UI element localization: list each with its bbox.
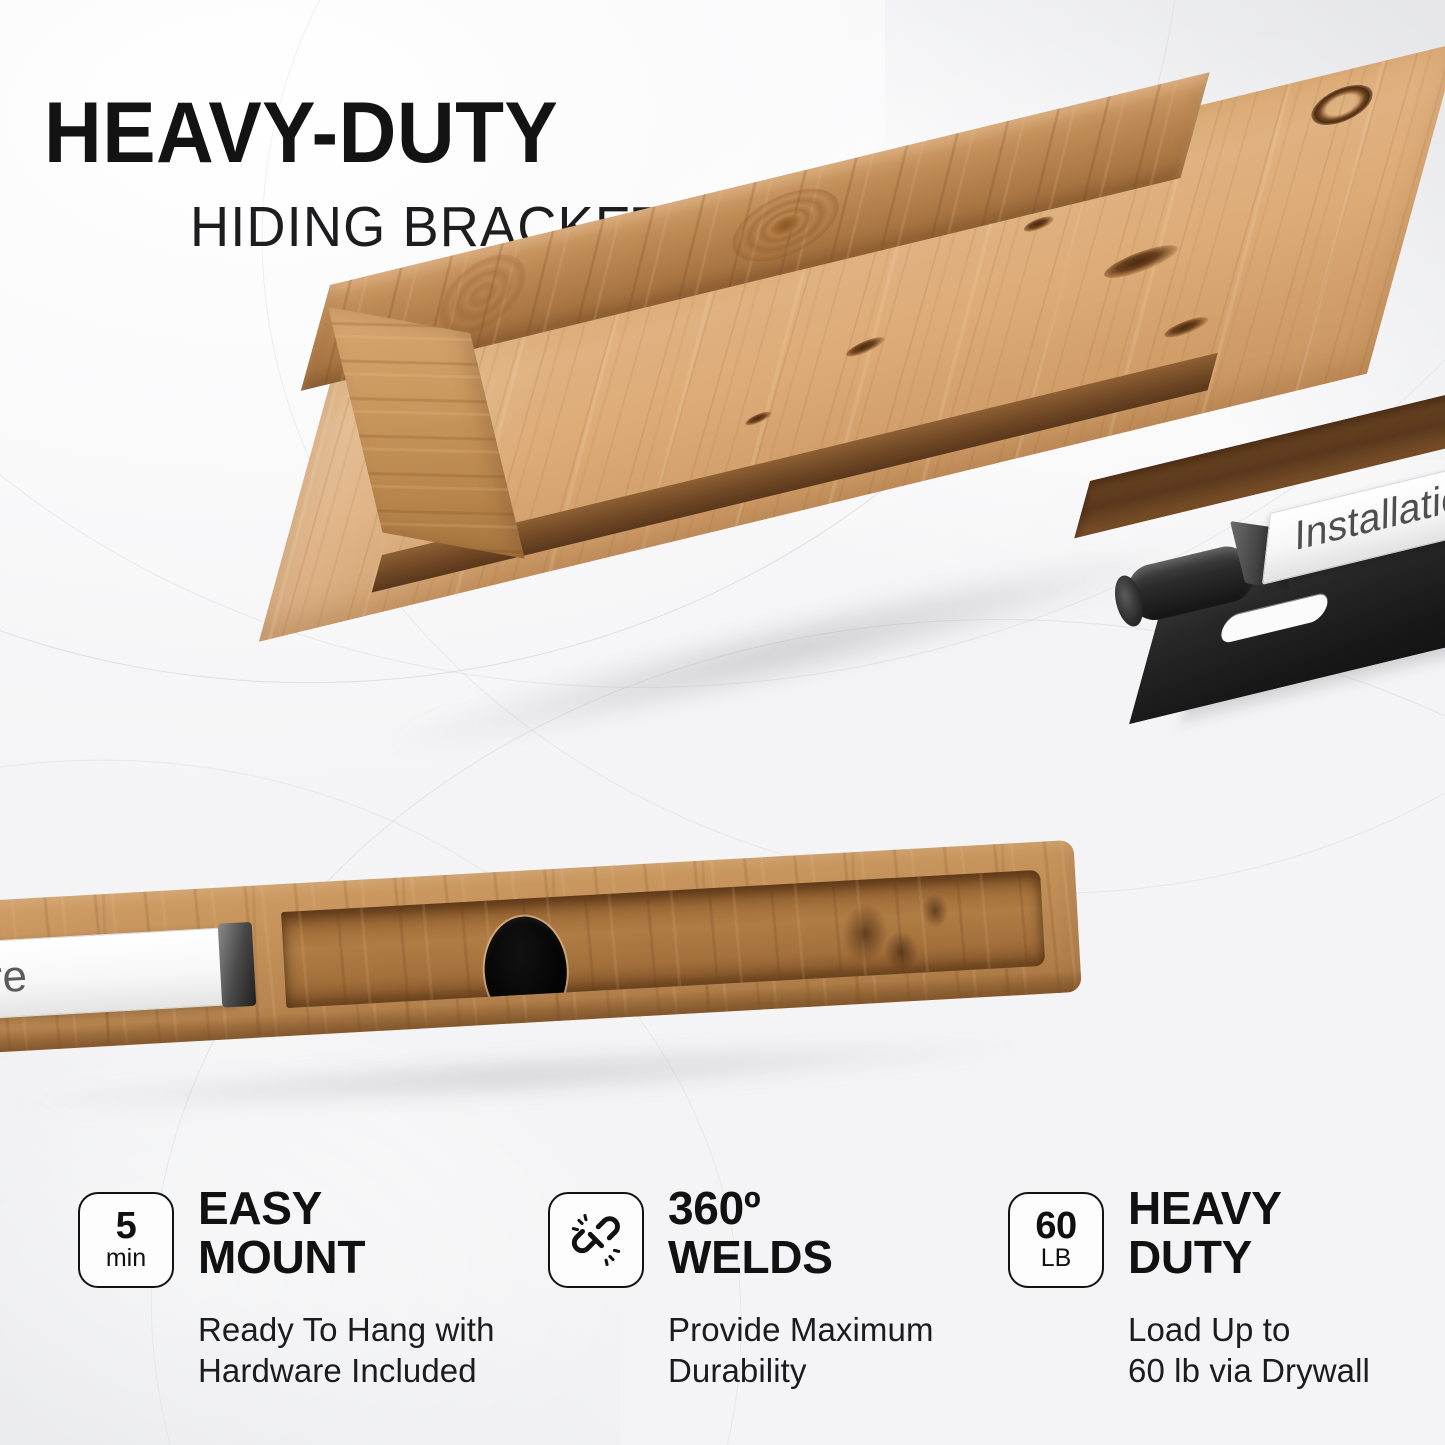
feature-title-line2: MOUNT (198, 1231, 365, 1283)
feature-desc-line2: Durability (668, 1351, 934, 1392)
minutes-badge-icon: 5 min (78, 1192, 174, 1288)
feature-title-line2: DUTY (1128, 1231, 1252, 1283)
feature-title: EASY MOUNT (198, 1184, 365, 1282)
badge-unit: LB (1041, 1245, 1072, 1271)
feature-description: Load Up to 60 lb via Drywall (1128, 1310, 1370, 1392)
product-infographic: HEAVY-DUTY HIDING BRACKET/ACCESSORY (0, 0, 1445, 1445)
product-photo-lower: ion hardware (0, 895, 1100, 1135)
feature-title: 360º WELDS (668, 1184, 833, 1282)
feature-desc-line1: Provide Maximum (668, 1310, 934, 1351)
badge-number: 5 (116, 1208, 137, 1244)
feature-desc-line2: 60 lb via Drywall (1128, 1351, 1370, 1392)
feature-desc-line1: Ready To Hang with (198, 1310, 495, 1351)
weight-badge-icon: 60 LB (1008, 1192, 1104, 1288)
chain-link-badge (548, 1192, 644, 1288)
feature-description: Ready To Hang with Hardware Included (198, 1310, 495, 1392)
badge-number: 60 (1035, 1208, 1076, 1244)
badge-unit: min (106, 1245, 146, 1271)
product-photo-upper: Installatio (330, 285, 1445, 790)
chain-link-icon (567, 1211, 625, 1269)
feature-desc-line1: Load Up to (1128, 1310, 1370, 1351)
feature-desc-line2: Hardware Included (198, 1351, 495, 1392)
feature-title-line1: 360º (668, 1182, 760, 1234)
feature-title: HEAVY DUTY (1128, 1184, 1282, 1282)
feature-title-line2: WELDS (668, 1231, 833, 1283)
feature-description: Provide Maximum Durability (668, 1310, 934, 1392)
hardware-card-lower-end-cap (218, 922, 257, 1008)
feature-title-line1: EASY (198, 1182, 322, 1234)
hardware-card-label-lower: ion hardware (0, 952, 29, 1016)
feature-row: 5 min EASY MOUNT Ready To Hang with Hard… (0, 1188, 1445, 1428)
feature-title-line1: HEAVY (1128, 1182, 1282, 1234)
